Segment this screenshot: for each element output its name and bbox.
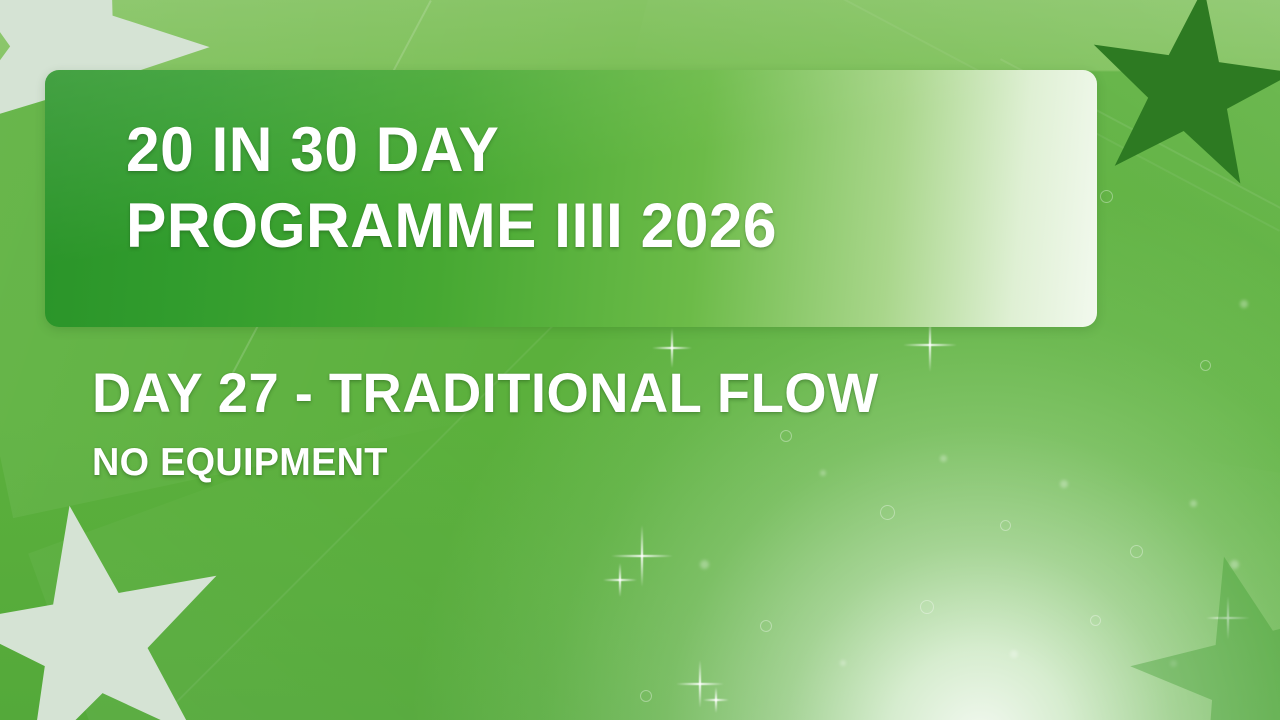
- programme-title: 20 IN 30 DAY PROGRAMME IIII 2026: [126, 112, 1126, 264]
- title-card: 20 IN 30 DAY PROGRAMME IIII 2026 DAY 27 …: [0, 0, 1280, 720]
- session-info: DAY 27 - TRADITIONAL FLOW NO EQUIPMENT: [92, 362, 1212, 486]
- session-title: DAY 27 - TRADITIONAL FLOW: [92, 362, 1178, 424]
- programme-title-line-1: 20 IN 30 DAY: [126, 112, 1086, 188]
- programme-title-line-2: PROGRAMME IIII 2026: [126, 188, 1086, 264]
- equipment-note: NO EQUIPMENT: [92, 440, 1178, 486]
